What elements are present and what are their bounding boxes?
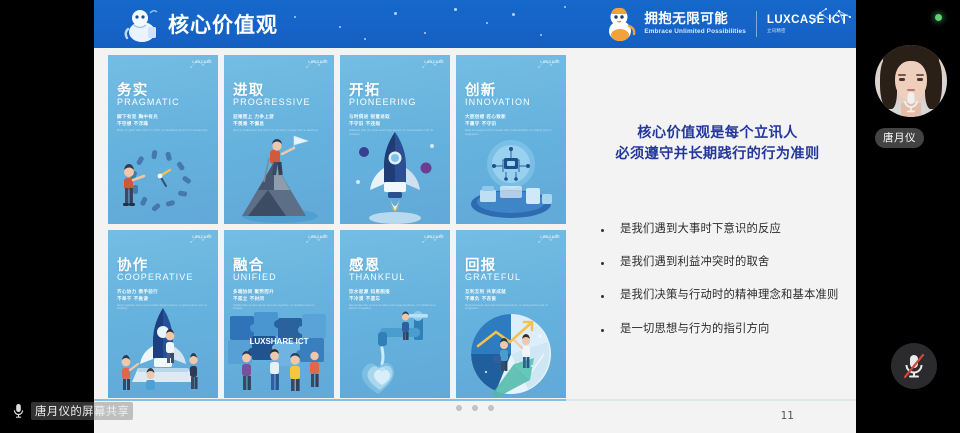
card-title-en: GRATEFUL [465,272,521,282]
mute-toggle-button[interactable] [891,343,937,389]
mountain-climber-art [224,128,334,224]
bullet-dot-icon [601,229,604,232]
puzzle-logo-label: LUXSHARE ICT [249,337,308,346]
bullet-text: 是我们遇到利益冲突时的取舍 [620,255,769,270]
avatar-brow-right [916,74,924,76]
list-item: 是我们决策与行动时的精神理念和基本准则 [591,288,856,303]
card-watermark: LUXCASE [424,60,444,64]
bullet-text: 是一切思想与行为的指引方向 [620,322,769,337]
microphone-icon [901,90,921,114]
card-title-en: THANKFUL [349,272,405,282]
mascot-icon [120,5,164,45]
card-title-en: UNIFIED [233,272,277,282]
recording-status-dot [935,14,942,21]
headline-line-1: 核心价值观是每个立讯人 [637,125,797,141]
card-subtitle-2: 不单干 不推诿 [117,296,148,302]
microphone-muted-icon [901,352,927,380]
list-item: 是我们遇到大事时下意识的反应 [591,222,856,237]
card-watermark: LUXCASE [540,60,560,64]
card-subtitle-1: 互利互利 共享成就 [465,289,506,295]
card-subtitle-1: 多端协同 聚势而升 [233,289,274,295]
brand-slogan-en: Embrace Unlimited Possibilities [644,29,746,35]
card-subtitle-2: 不墨守 不守旧 [465,121,496,127]
pie-chart-growth-art [456,302,566,398]
value-card-grid: LUXCASE 务实 PRAGMATIC 脚下有泥 胸中有光 不空想 不浮躁 D… [108,55,566,398]
value-card-cooperative[interactable]: LUXCASE 协作 COOPERATIVE 齐心协力 携手前行 不单干 不推诿… [108,230,218,399]
company-logo: LUXCASE ICT 立讯精密 [767,14,848,34]
value-card-pioneering[interactable]: LUXCASE 开拓 PIONEERING 与时俱进 锐意进取 不守旧 不违规 … [340,55,450,224]
page-number: 11 [781,410,794,422]
bullet-dot-icon [601,329,604,332]
card-watermark: LUXCASE [308,235,328,239]
card-title-en: PIONEERING [349,97,417,107]
participant-name-label: 唐月仪 [875,128,924,148]
value-card-grateful[interactable]: LUXCASE 回报 GRATEFUL 互利互利 共享成就 不辜负 不吝啬 Mu… [456,230,566,399]
avatar-hair-right [925,57,942,109]
value-card-innovation[interactable]: LUXCASE 创新 INNOVATION 大胆创想 匠心致新 不墨守 不守旧 … [456,55,566,224]
carousel-dot[interactable] [472,405,478,411]
bullet-text: 是我们遇到大事时下意识的反应 [620,222,781,237]
card-watermark: LUXCASE [308,60,328,64]
avatar-eye-right [917,78,923,81]
slide-body: LUXCASE 务实 PRAGMATIC 脚下有泥 胸中有光 不空想 不浮躁 D… [94,48,856,433]
value-card-unified[interactable]: LUXCASE 融合 UNIFIED 多端协同 聚势而升 不孤立 不封闭 Col… [224,230,334,399]
brand-block: 拥抱无限可能 Embrace Unlimited Possibilities [603,4,848,44]
innovation-sphere-art [456,128,566,224]
list-item: 是我们遇到利益冲突时的取舍 [591,255,856,270]
card-subtitle-1: 与时俱进 锐意进取 [349,114,390,120]
card-subtitle-1: 齐心协力 携手前行 [117,289,158,295]
carousel-dot[interactable] [456,405,462,411]
card-watermark: LUXCASE [424,235,444,239]
card-title-en: INNOVATION [465,97,531,107]
slide-headline: 核心价值观是每个立讯人 必须遵守并长期践行的行为准则 [579,123,856,166]
value-card-thankful[interactable]: LUXCASE 感恩 THANKFUL 饮水思源 知恩图报 不冷漠 不遗忘 Re… [340,230,450,399]
card-subtitle-2: 不冷漠 不遗忘 [349,296,380,302]
card-title-en: PROGRESSIVE [233,97,311,107]
brand-divider [756,11,757,37]
bullet-text: 是我们决策与行动时的精神理念和基本准则 [620,288,838,303]
bullet-dot-icon [601,295,604,298]
list-item: 是一切思想与行为的指引方向 [591,322,856,337]
card-subtitle-2: 不畏难 不懈怠 [233,121,264,127]
constellation-icon [808,7,854,29]
card-title-en: COOPERATIVE [117,272,193,282]
card-subtitle-1: 饮水思源 知恩图报 [349,289,390,295]
brand-slogan-cn: 拥抱无限可能 [644,13,746,27]
team-rocket-art [108,302,218,398]
slide-text-panel: 核心价值观是每个立讯人 必须遵守并长期践行的行为准则 是我们遇到大事时下意识的反… [579,48,856,433]
screen-share-window: 核心价值观 拥抱无限可能 Embrace Unlimited Possibili… [0,0,960,433]
slide-progress-fill [94,399,566,401]
shared-slide: 核心价值观 拥抱无限可能 Embrace Unlimited Possibili… [94,0,856,433]
microphone-icon [12,403,25,419]
avatar-brow-left [898,74,906,76]
slide-header: 核心价值观 拥抱无限可能 Embrace Unlimited Possibili… [94,0,856,48]
card-subtitle-1: 脚下有泥 胸中有光 [117,114,158,120]
avatar-eye-left [899,78,905,81]
hiker-footprints-art [108,128,218,224]
card-subtitle-2: 不辜负 不吝啬 [465,296,496,302]
bullet-list: 是我们遇到大事时下意识的反应 是我们遇到利益冲突时的取舍 是我们决策与行动时的精… [591,222,856,355]
slide-progress-bar[interactable] [94,399,856,401]
faucet-heart-art [340,302,450,398]
puzzle-pieces-art: LUXSHARE ICT [224,302,334,398]
headline-line-2: 必须遵守并长期践行的行为准则 [579,144,856,165]
bullet-dot-icon [601,262,604,265]
value-card-pragmatic[interactable]: LUXCASE 务实 PRAGMATIC 脚下有泥 胸中有光 不空想 不浮躁 D… [108,55,218,224]
card-watermark: LUXCASE [192,60,212,64]
card-subtitle-1: 迎难而上 力争上游 [233,114,274,120]
card-subtitle-1: 大胆创想 匠心致新 [465,114,506,120]
card-title-en: PRAGMATIC [117,97,180,107]
value-card-progressive[interactable]: LUXCASE 进取 PROGRESSIVE 迎难而上 力争上游 不畏难 不懈怠… [224,55,334,224]
card-watermark: LUXCASE [192,235,212,239]
card-subtitle-2: 不守旧 不违规 [349,121,380,127]
screen-share-label: 唐月仪的屏幕共享 [31,402,133,420]
page-title: 核心价值观 [168,9,278,39]
carousel-dot[interactable] [488,405,494,411]
participant-video-tile[interactable]: 唐月仪 [856,36,960,154]
carousel-indicator[interactable] [94,405,856,411]
card-subtitle-2: 不空想 不浮躁 [117,121,148,127]
brand-mascot-icon [603,6,637,42]
card-watermark: LUXCASE [540,235,560,239]
card-subtitle-2: 不孤立 不封闭 [233,296,264,302]
screen-share-banner: 唐月仪的屏幕共享 [8,400,141,422]
rocket-launch-art [340,128,450,224]
